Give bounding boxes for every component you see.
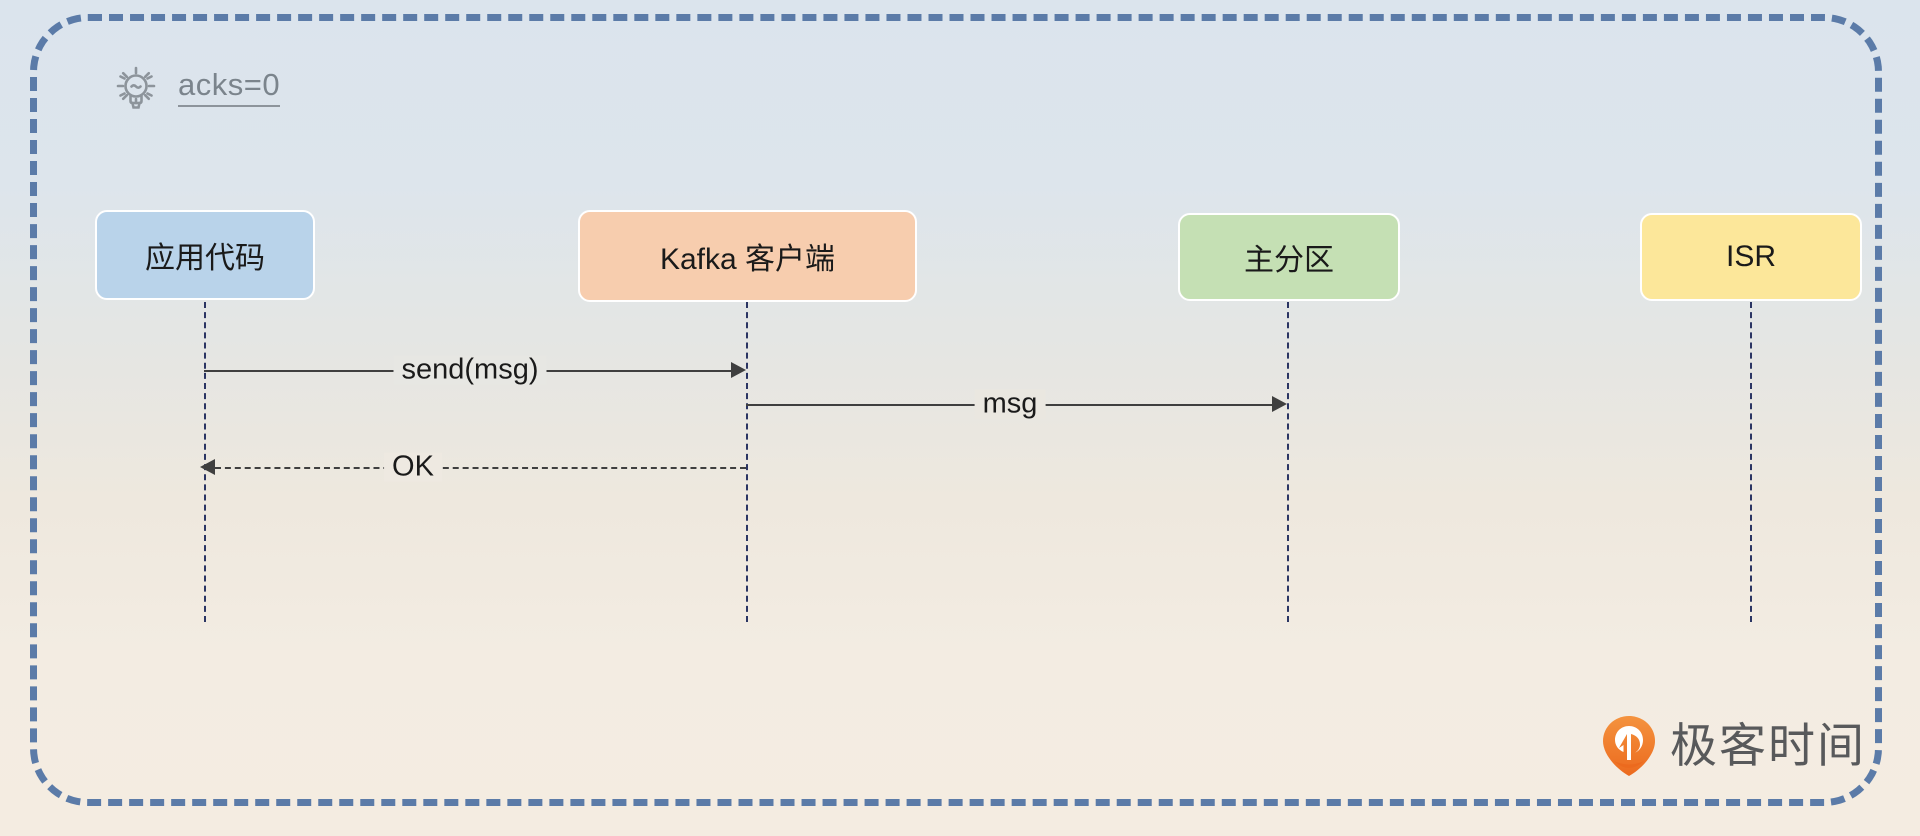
participant-box-isr[interactable]: ISR (1640, 213, 1862, 301)
message-arrowhead-ok (200, 459, 215, 475)
note-label: acks=0 (178, 69, 280, 108)
geektime-pin-icon (1600, 714, 1658, 778)
message-arrowhead-send (731, 362, 746, 378)
brand-text: 极客时间 (1670, 723, 1866, 770)
lifeline-isr (1750, 302, 1752, 622)
participant-label-isr: ISR (1726, 240, 1776, 274)
participant-label-app: 应用代码 (145, 233, 265, 277)
lightbulb-icon (110, 62, 162, 114)
note-acks: acks=0 (110, 62, 280, 114)
participant-label-leader: 主分区 (1244, 235, 1334, 279)
participant-box-app[interactable]: 应用代码 (95, 210, 315, 300)
message-label-msg: msg (975, 390, 1046, 419)
lifeline-kafka (746, 302, 748, 622)
message-label-send: send(msg) (394, 356, 547, 385)
message-line-ok (215, 467, 746, 469)
participant-label-kafka: Kafka 客户端 (660, 234, 835, 278)
participant-box-kafka[interactable]: Kafka 客户端 (578, 210, 917, 302)
participant-box-leader[interactable]: 主分区 (1178, 213, 1400, 301)
message-label-ok: OK (384, 453, 442, 482)
sequence-diagram-canvas: acks=0 应用代码 Kafka 客户端 主分区 ISR send(msg) … (0, 0, 1920, 836)
lifeline-leader (1287, 302, 1289, 622)
brand-logo: 极客时间 (1600, 714, 1866, 778)
diagram-frame (30, 14, 1882, 806)
message-arrowhead-msg (1272, 396, 1287, 412)
